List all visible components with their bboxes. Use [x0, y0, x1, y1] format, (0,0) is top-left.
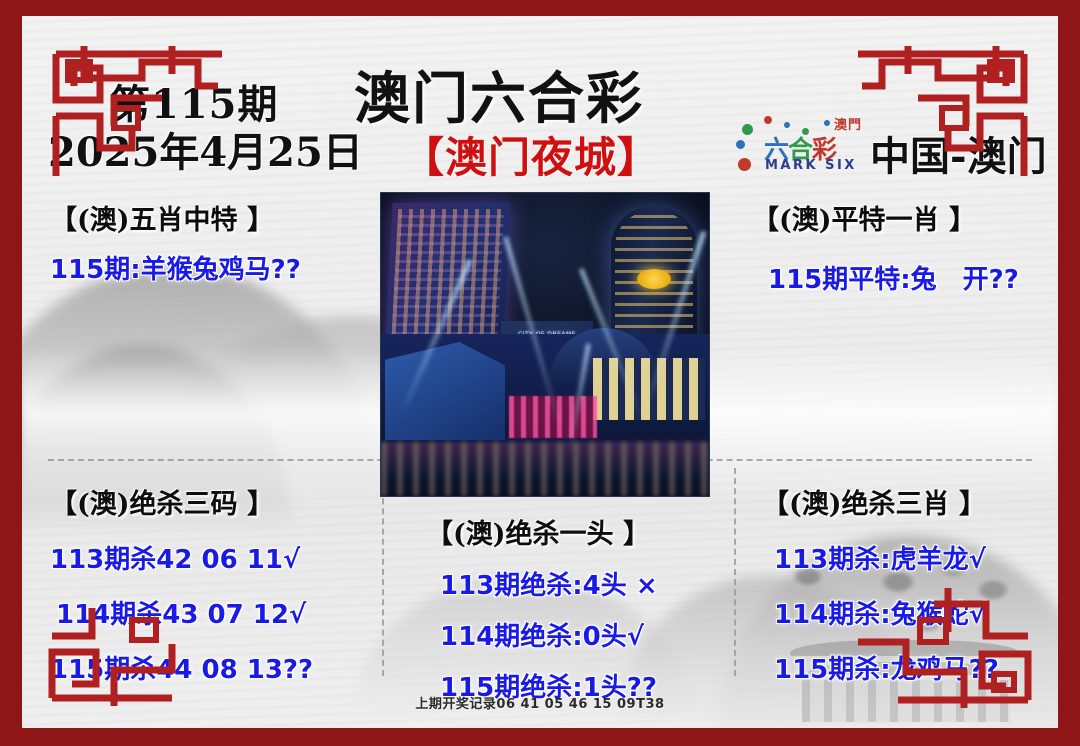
logo-dot [784, 122, 790, 128]
panel-ping-te-one-zodiac: 【(澳)平特一肖 】 115期平特:兔 开?? [752, 198, 1019, 296]
panel-line: 113期杀42 06 11√ [50, 539, 313, 576]
photo-water-reflection [381, 442, 709, 496]
photo-crown-emblem [637, 269, 671, 289]
logo-dot [738, 158, 751, 171]
panel-line: 114期杀43 07 12√ [56, 594, 313, 631]
poster-header: 第115期 2025年4月25日 澳门六合彩 【澳门夜城】 中国-澳门 六合彩 [22, 16, 1058, 168]
panel-line: 115期:羊猴兔鸡马?? [50, 249, 301, 286]
panel-line: 115期杀:龙鸡马?? [774, 649, 999, 686]
photo-reflection-glow [381, 442, 709, 496]
draw-date: 2025年4月25日 [48, 120, 363, 178]
panel-title: 【(澳)平特一肖 】 [752, 198, 1019, 237]
panel-kill-one-head: 【(澳)绝杀一头 】 113期绝杀:4头 × 114期绝杀:0头√ 115期绝杀… [426, 512, 658, 704]
logo-dot [764, 116, 772, 124]
panel-line: 115期杀44 08 13?? [50, 649, 313, 686]
lottery-poster: 第115期 2025年4月25日 澳门六合彩 【澳门夜城】 中国-澳门 六合彩 [0, 0, 1080, 746]
panel-line: 114期绝杀:0头√ [440, 616, 658, 653]
inner-paper-area: 第115期 2025年4月25日 澳门六合彩 【澳门夜城】 中国-澳门 六合彩 [22, 16, 1058, 728]
panel-line: 114期杀:兔猴蛇√ [774, 594, 999, 631]
logo-dot [736, 140, 745, 149]
logo-mark-six-text: MARK SIX [765, 158, 857, 173]
mark-six-logo: 六合彩 MARK SIX 澳門 [736, 114, 868, 176]
panel-kill-three-zodiac: 【(澳)绝杀三肖 】 113期杀:虎羊龙√ 114期杀:兔猴蛇√ 115期杀:龙… [762, 482, 999, 686]
panel-title: 【(澳)绝杀三肖 】 [762, 482, 999, 521]
panel-title: 【(澳)绝杀一头 】 [426, 512, 658, 551]
panel-kill-three-codes: 【(澳)绝杀三码 】 113期杀42 06 11√ 114期杀43 07 12√… [50, 482, 313, 686]
panel-line: 113期绝杀:4头 × [440, 565, 658, 602]
subtitle-banner: 【澳门夜城】 [402, 124, 660, 185]
macau-night-photo: CITY OF DREAMS HYATT [380, 192, 710, 497]
logo-dot [742, 124, 753, 135]
photo-glass-facade [385, 342, 505, 440]
panel-five-zodiac: 【(澳)五肖中特 】 115期:羊猴兔鸡马?? [50, 198, 301, 286]
vertical-divider-right [734, 468, 736, 676]
region-label: 中国-澳门 [870, 124, 1047, 182]
logo-macau-text: 澳門 [834, 114, 862, 133]
panel-title: 【(澳)五肖中特 】 [50, 198, 301, 237]
vertical-divider-left [382, 468, 384, 676]
panel-line: 115期平特:兔 开?? [768, 259, 1019, 296]
panel-line: 113期杀:虎羊龙√ [774, 539, 999, 576]
last-draw-record: 上期开奖记录06 41 05 46 15 09T38 [22, 693, 1058, 712]
page-title: 澳门六合彩 [354, 54, 644, 135]
logo-dot [824, 120, 830, 126]
panel-title: 【(澳)绝杀三码 】 [50, 482, 313, 521]
